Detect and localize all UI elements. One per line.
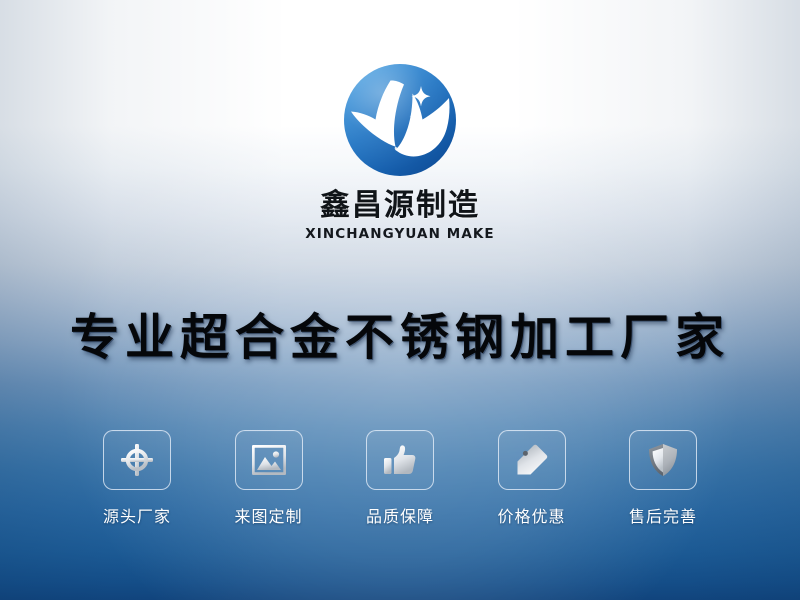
promo-banner: 鑫昌源制造 XINCHANGYUAN MAKE 专业超合金不锈钢加工厂家 <box>0 0 800 600</box>
feature-item[interactable]: 价格优惠 <box>473 430 591 527</box>
thumbs-up-icon <box>383 444 417 476</box>
feature-label: 售后完善 <box>604 503 722 527</box>
headline-text: 专业超合金不锈钢加工厂家 <box>0 298 800 369</box>
feature-label: 价格优惠 <box>473 503 591 527</box>
feature-item[interactable]: 品质保障 <box>341 430 459 527</box>
shield-icon <box>648 443 678 477</box>
feature-icon-box[interactable] <box>235 430 303 490</box>
feature-label: 品质保障 <box>341 503 459 527</box>
picture-image-icon <box>252 445 286 475</box>
price-tag-icon <box>516 444 548 476</box>
feature-item[interactable]: 源头厂家 <box>78 430 196 527</box>
feature-icon-box[interactable] <box>498 430 566 490</box>
swallow-circle-logo <box>342 62 458 178</box>
feature-label: 源头厂家 <box>78 503 196 527</box>
feature-icon-box[interactable] <box>366 430 434 490</box>
brand-logo-block: 鑫昌源制造 XINCHANGYUAN MAKE <box>0 62 800 242</box>
brand-name-cn: 鑫昌源制造 <box>0 190 800 222</box>
crosshair-target-icon <box>120 443 154 477</box>
feature-item[interactable]: 售后完善 <box>604 430 722 527</box>
feature-list: 源头厂家 来图定制 <box>78 430 722 527</box>
feature-item[interactable]: 来图定制 <box>210 430 328 527</box>
feature-icon-box[interactable] <box>103 430 171 490</box>
brand-name-en: XINCHANGYUAN MAKE <box>0 226 800 242</box>
feature-icon-box[interactable] <box>629 430 697 490</box>
feature-label: 来图定制 <box>210 503 328 527</box>
